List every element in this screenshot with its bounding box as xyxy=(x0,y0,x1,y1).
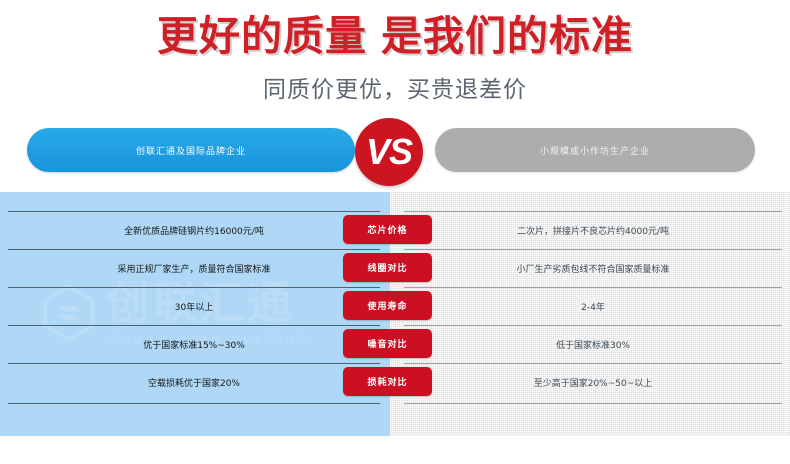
table-row: 空载损耗优于国家20%损耗对比至少高于国家20%~50~以上 xyxy=(0,363,790,401)
table-row: 全新优质品牌硅钢片约16000元/吨芯片价格二次片，拼接片不良芯片约4000元/… xyxy=(0,211,790,249)
cell-ours: 优于国家标准15%~30% xyxy=(8,326,380,363)
cell-ours: 30年以上 xyxy=(8,288,380,325)
cell-theirs: 至少高于国家20%~50~以上 xyxy=(404,364,782,401)
table-bottom-divider-right xyxy=(404,403,782,404)
page-subtitle: 同质价更优，买贵退差价 xyxy=(0,70,790,104)
table-bottom-divider-left xyxy=(8,403,380,404)
cell-theirs: 二次片，拼接片不良芯片约4000元/吨 xyxy=(404,212,782,249)
row-category-badge: 噪音对比 xyxy=(343,329,432,358)
cell-ours: 采用正规厂家生产，质量符合国家标准 xyxy=(8,250,380,287)
row-category-badge: 芯片价格 xyxy=(343,215,432,244)
promo-comparison-page: 更好的质量是我们的标准 同质价更优，买贵退差价 创联汇通及国际品牌企业 VS 小… xyxy=(0,0,790,464)
cell-theirs: 小厂生产劣质包线不符合国家质量标准 xyxy=(404,250,782,287)
vs-label: VS xyxy=(366,131,412,173)
versus-left-label: 创联汇通及国际品牌企业 xyxy=(136,144,246,157)
page-title-part-1: 更好的质量 xyxy=(157,12,367,60)
versus-right-pill: 小规模或小作坊生产企业 xyxy=(435,128,755,172)
table-row: 优于国家标准15%~30%噪音对比低于国家标准30% xyxy=(0,325,790,363)
row-category-badge: 损耗对比 xyxy=(343,367,432,396)
versus-right-label: 小规模或小作坊生产企业 xyxy=(540,144,650,157)
table-row: 采用正规厂家生产，质量符合国家标准线圈对比小厂生产劣质包线不符合国家质量标准 xyxy=(0,249,790,287)
comparison-table: 创联汇通 CHUANGLIAN HUITONG 全新优质品牌硅钢片约16000元… xyxy=(0,192,790,436)
cell-ours: 全新优质品牌硅钢片约16000元/吨 xyxy=(8,212,380,249)
page-title: 更好的质量是我们的标准 xyxy=(0,14,790,59)
versus-band: 创联汇通及国际品牌企业 VS 小规模或小作坊生产企业 xyxy=(0,118,790,188)
row-category-badge: 线圈对比 xyxy=(343,253,432,282)
comparison-rows: 全新优质品牌硅钢片约16000元/吨芯片价格二次片，拼接片不良芯片约4000元/… xyxy=(0,192,790,436)
table-row: 30年以上使用寿命2-4年 xyxy=(0,287,790,325)
page-title-part-2: 是我们的标准 xyxy=(381,12,633,60)
vs-badge-icon: VS xyxy=(355,118,423,186)
cell-theirs: 低于国家标准30% xyxy=(404,326,782,363)
versus-left-pill: 创联汇通及国际品牌企业 xyxy=(27,128,355,172)
cell-theirs: 2-4年 xyxy=(404,288,782,325)
cell-ours: 空载损耗优于国家20% xyxy=(8,364,380,401)
row-category-badge: 使用寿命 xyxy=(343,291,432,320)
